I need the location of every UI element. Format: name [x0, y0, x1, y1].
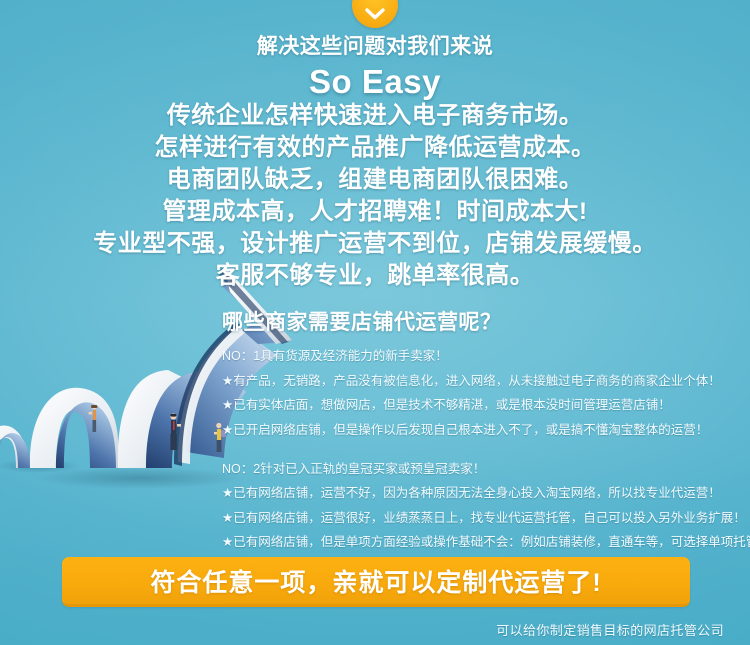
chevron-down-icon	[365, 8, 385, 20]
headline-line-2: 传统企业怎样快速进入电子商务市场。	[0, 104, 750, 128]
customer-group-1: NO：1具有货源及经济能力的新手卖家！ ★有产品，无销路，产品没有被信息化，进入…	[222, 349, 742, 439]
list-item: ★已有实体店面，想做网店，但是技术不够精湛，或是根本没时间管理运营店铺！	[222, 398, 742, 414]
list-item: ★已有网络店铺，但是单项方面经验或操作基础不会：例如店铺装修，直通车等，可选择单…	[222, 535, 742, 551]
list-item: ★已有网络店铺，运营很好，业绩蒸蒸日上，找专业代运营托管，自己可以投入另外业务扩…	[222, 511, 742, 527]
group-divider-spacer	[222, 448, 742, 462]
cta-banner-label: 符合任意一项，亲就可以定制代运营了!	[150, 563, 601, 599]
headline-line-6: 专业型不强，设计推广运营不到位，店铺发展缓慢。	[0, 232, 750, 256]
list-item: ★已有网络店铺，运营不好，因为各种原因无法全身心投入淘宝网络，所以找专业代运营！	[222, 486, 742, 502]
headline-line-7: 客服不够专业，跳单率很高。	[0, 264, 750, 288]
group-1-heading: NO：1具有货源及经济能力的新手卖家！	[222, 349, 742, 365]
headline-line-3: 怎样进行有效的产品推广降低运营成本。	[0, 136, 750, 160]
headline-line-4: 电商团队缺乏，组建电商团队很困难。	[0, 168, 750, 192]
list-item: ★已开启网络店铺，但是操作以后发现自己根本进入不了，或是搞不懂淘宝整体的运营！	[222, 423, 742, 439]
target-customers-section: 哪些商家需要店铺代运营呢？ NO：1具有货源及经济能力的新手卖家！ ★有产品，无…	[222, 306, 742, 560]
headline-so-easy: So Easy	[0, 65, 750, 98]
headline-block: 解决这些问题对我们来说 So Easy 传统企业怎样快速进入电子商务市场。 怎样…	[0, 36, 750, 296]
section-title: 哪些商家需要店铺代运营呢？	[222, 306, 742, 336]
footnote-text: 可以给你制定销售目标的网店托管公司	[496, 620, 724, 639]
customer-group-2: NO：2针对已入正轨的皇冠买家或预皇冠卖家！ ★已有网络店铺，运营不好，因为各种…	[222, 462, 742, 552]
cta-banner[interactable]: 符合任意一项，亲就可以定制代运营了!	[62, 557, 690, 607]
headline-line-5: 管理成本高，人才招聘难！时间成本大!	[0, 200, 750, 224]
list-item: ★有产品，无销路，产品没有被信息化，进入网络，从未接触过电子商务的商家企业个体！	[222, 374, 742, 390]
headline-line-1: 解决这些问题对我们来说	[0, 36, 750, 57]
group-2-heading: NO：2针对已入正轨的皇冠买家或预皇冠卖家！	[222, 462, 742, 478]
promo-page: 解决这些问题对我们来说 So Easy 传统企业怎样快速进入电子商务市场。 怎样…	[0, 0, 750, 645]
